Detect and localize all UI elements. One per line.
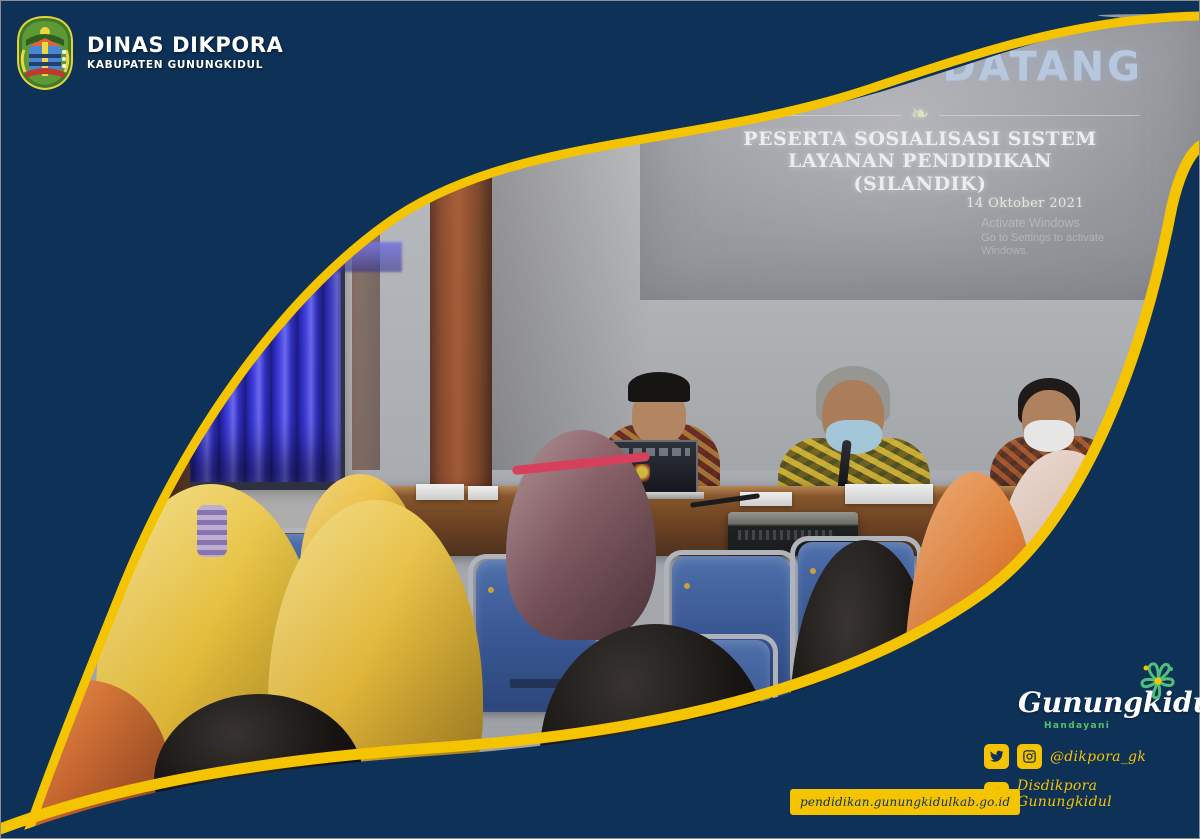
header-brand-text: DINAS DIKPORA KABUPATEN GUNUNGKIDUL — [87, 34, 284, 72]
gunungkidul-flower-icon — [1136, 659, 1180, 703]
poster-canvas: SELAMAT DATANG ❧ PESERTA SOSIALISASI SIS… — [0, 0, 1200, 839]
org-title: DINAS DIKPORA — [87, 34, 284, 57]
gunungkidul-regency-emblem-icon — [16, 16, 74, 90]
gunungkidul-tagline: Handayani — [1044, 721, 1178, 731]
gunungkidul-tourism-logo: Gunungkidul Handayani — [1018, 689, 1178, 731]
twitter-icon[interactable] — [984, 744, 1009, 769]
website-url-banner[interactable]: pendidikan.gunungkidulkab.go.id — [790, 789, 1020, 815]
instagram-icon[interactable] — [1017, 744, 1042, 769]
social-row-twitter-instagram: @dikpora_gk — [984, 744, 1184, 769]
org-subtitle: KABUPATEN GUNUNGKIDUL — [87, 60, 284, 72]
header-branding: DINAS DIKPORA KABUPATEN GUNUNGKIDUL — [16, 16, 284, 90]
website-url: pendidikan.gunungkidulkab.go.id — [800, 795, 1010, 809]
facebook-handle: Disdikpora Gunungkidul — [1017, 778, 1184, 810]
instagram-handle: @dikpora_gk — [1050, 749, 1146, 765]
